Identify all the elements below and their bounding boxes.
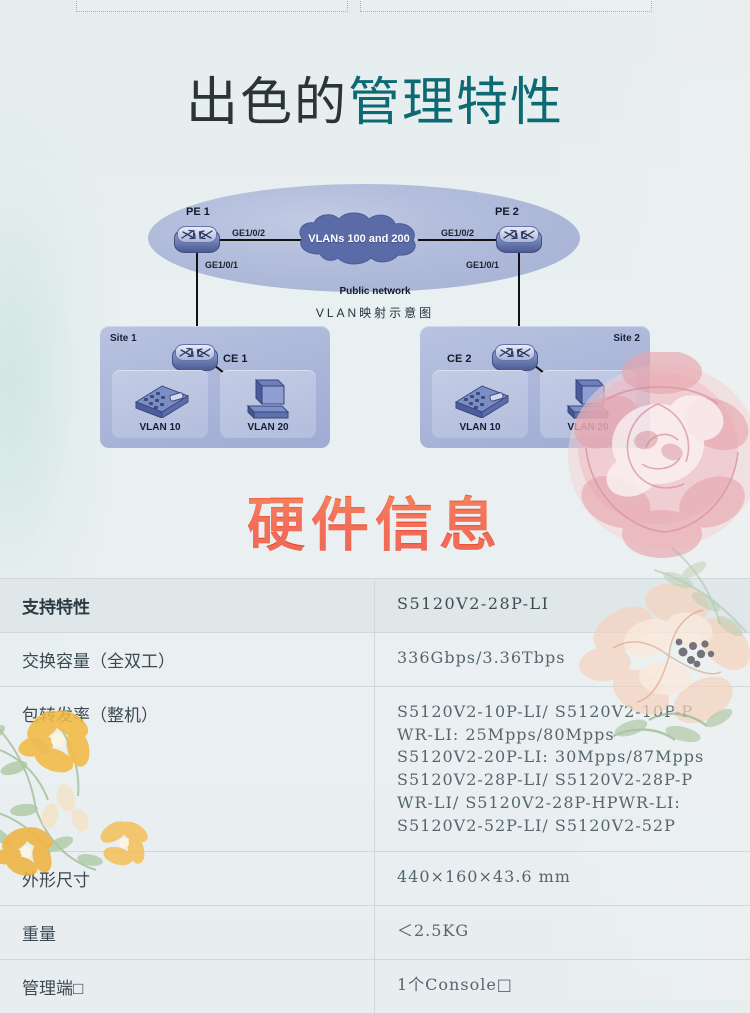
spec-value-cell: 1个Console□ (375, 960, 750, 1013)
spec-value-line: ＜2.5KG (397, 920, 750, 943)
spec-row: 外形尺寸440×160×43.6 mm (0, 852, 750, 906)
site-1-vlan10-box: VLAN 10 (112, 370, 208, 438)
dotted-box-right (360, 0, 652, 12)
spec-value-line: S5120V2-28P-LI/ S5120V2-28P-P (397, 769, 750, 792)
page-title-teal-part: 管理特性 (348, 74, 564, 132)
spec-value-line: 336Gbps/3.36Tbps (397, 647, 750, 670)
spec-label-cell: 重量 (0, 906, 375, 959)
site-2-vlan10-label: VLAN 10 (432, 422, 528, 433)
spec-value-cell: 440×160×43.6 mm (375, 852, 750, 905)
spec-value-cell: S5120V2-10P-LI/ S5120V2-10P-PWR-LI: 25Mp… (375, 687, 750, 851)
ce2-switch-icon (492, 343, 538, 373)
spec-value-line: S5120V2-52P-LI/ S5120V2-52P (397, 815, 750, 838)
spec-row: 交换容量（全双工）336Gbps/3.36Tbps (0, 633, 750, 687)
site-1-vlan10-label: VLAN 10 (112, 422, 208, 433)
site-1-box: Site 1 CE 1 (100, 326, 330, 448)
ip-phone-icon (128, 378, 192, 418)
pe2-name: PE 2 (495, 206, 519, 218)
pe1-port-top-label: GE1/0/2 (232, 228, 265, 238)
cloud-label: VLANs 100 and 200 (292, 233, 426, 245)
hardware-heading-wrap: 硬件信息 (0, 478, 750, 562)
top-cropped-strip (0, 0, 750, 58)
switch-arrows-icon (177, 226, 217, 243)
vlan-diagram-caption: VLAN映射示意图 (0, 304, 750, 321)
pe2-port-bottom-label: GE1/0/1 (466, 260, 499, 270)
pe2-switch-icon (496, 225, 542, 255)
spec-value-cell: ＜2.5KG (375, 906, 750, 959)
spec-row: 支持特性S5120V2-28P-LI (0, 578, 750, 633)
pe1-switch-icon (174, 225, 220, 255)
ce1-name: CE 1 (223, 353, 247, 365)
ce1-switch-icon (172, 343, 218, 373)
switch-arrows-icon (495, 344, 535, 361)
spec-value-line: 440×160×43.6 mm (397, 866, 750, 889)
ce2-name: CE 2 (447, 353, 471, 365)
desktop-pc-icon (558, 376, 618, 420)
dotted-box-left (76, 0, 348, 12)
spec-value-cell: 336Gbps/3.36Tbps (375, 633, 750, 686)
spec-value-line: WR-LI: 25Mpps/80Mpps (397, 724, 750, 747)
spec-value-line: 1个Console□ (397, 974, 750, 997)
pe2-port-top-label: GE1/0/2 (441, 228, 474, 238)
spec-label-cell: 管理端□ (0, 960, 375, 1013)
site-1-vlan20-box: VLAN 20 (220, 370, 316, 438)
ip-phone-icon (448, 378, 512, 418)
site-1-title: Site 1 (110, 333, 137, 344)
pe1-name: PE 1 (186, 206, 210, 218)
spec-value-cell: S5120V2-28P-LI (375, 579, 750, 632)
spec-value-line: S5120V2-10P-LI/ S5120V2-10P-P (397, 701, 750, 724)
page-title-dark-part: 出色的 (186, 74, 348, 132)
site-2-vlan10-box: VLAN 10 (432, 370, 528, 438)
hardware-heading: 硬件信息 (247, 493, 503, 558)
spec-value-line: S5120V2-20P-LI: 30Mpps/87Mpps (397, 746, 750, 769)
site-2-box: Site 2 CE 2 (420, 326, 650, 448)
page-title-wrap: 出色的管理特性 (0, 74, 750, 134)
site-2-vlan20-box: VLAN 20 (540, 370, 636, 438)
switch-arrows-icon (499, 226, 539, 243)
spec-row: 重量＜2.5KG (0, 906, 750, 960)
network-diagram: VLANs 100 and 200 PE 1 GE1/0/2 GE1/0/1 P… (0, 178, 750, 478)
spec-row: 管理端□1个Console□ (0, 960, 750, 1014)
spec-row: 包转发率（整机）S5120V2-10P-LI/ S5120V2-10P-PWR-… (0, 687, 750, 852)
cloud-shape: VLANs 100 and 200 (292, 210, 426, 268)
spec-value-line: S5120V2-28P-LI (397, 593, 750, 616)
spec-label-cell: 包转发率（整机） (0, 687, 375, 851)
switch-arrows-icon (175, 344, 215, 361)
spec-value-line: WR-LI/ S5120V2-28P-HPWR-LI: (397, 792, 750, 815)
spec-label-cell: 支持特性 (0, 579, 375, 632)
site-2-vlan20-label: VLAN 20 (540, 422, 636, 433)
spec-label-cell: 交换容量（全双工） (0, 633, 375, 686)
desktop-pc-icon (238, 376, 298, 420)
site-1-vlan20-label: VLAN 20 (220, 422, 316, 433)
spec-label-cell: 外形尺寸 (0, 852, 375, 905)
pe1-port-bottom-label: GE1/0/1 (205, 260, 238, 270)
public-network-label: Public network (0, 286, 750, 297)
site-2-title: Site 2 (613, 333, 640, 344)
spec-table: 支持特性S5120V2-28P-LI交换容量（全双工）336Gbps/3.36T… (0, 578, 750, 1014)
page-title: 出色的管理特性 (0, 74, 750, 134)
